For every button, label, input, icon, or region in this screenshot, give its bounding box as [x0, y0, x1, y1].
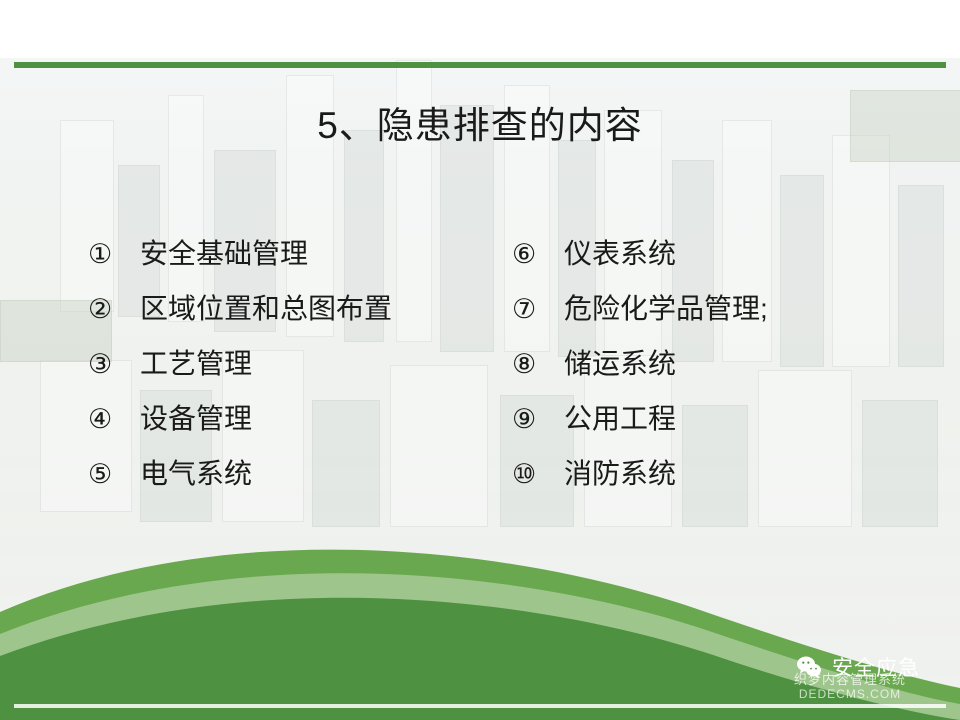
list-text: 仪表系统 [564, 232, 676, 272]
list-item: ④ 设备管理 [88, 397, 488, 452]
list-marker: ④ [88, 404, 140, 435]
list-item: ⑤ 电气系统 [88, 452, 488, 507]
top-white-band [0, 0, 960, 58]
list-text: 危险化学品管理; [564, 287, 768, 327]
watermark: 织梦内容管理系统 DEDECMS.COM [794, 673, 906, 702]
list-marker: ⑨ [512, 404, 564, 435]
list-text: 消防系统 [564, 452, 676, 492]
page-title: 5、隐患排查的内容 [0, 104, 960, 148]
list-item: ② 区域位置和总图布置 [88, 287, 488, 342]
list-marker: ⑥ [512, 239, 564, 270]
list-item: ⑩ 消防系统 [512, 452, 912, 507]
list-marker: ① [88, 239, 140, 270]
list-text: 储运系统 [564, 342, 676, 382]
list-marker: ② [88, 294, 140, 325]
list-item: ⑥ 仪表系统 [512, 232, 912, 287]
list-item: ⑨ 公用工程 [512, 397, 912, 452]
list-text: 工艺管理 [140, 342, 252, 382]
watermark-line-2: DEDECMS.COM [794, 688, 906, 702]
top-green-rule [14, 62, 946, 68]
list-item: ⑦ 危险化学品管理; [512, 287, 912, 342]
list-marker: ③ [88, 349, 140, 380]
slide: 5、隐患排查的内容 ① 安全基础管理 ② 区域位置和总图布置 ③ 工艺管理 ④ … [0, 0, 960, 720]
list-text: 电气系统 [140, 452, 252, 492]
list-marker: ⑦ [512, 294, 564, 325]
list-text: 公用工程 [564, 397, 676, 437]
list-item: ⑧ 储运系统 [512, 342, 912, 397]
content-list-right: ⑥ 仪表系统 ⑦ 危险化学品管理; ⑧ 储运系统 ⑨ 公用工程 ⑩ 消防系统 [512, 232, 912, 507]
watermark-line-1: 织梦内容管理系统 [794, 673, 906, 688]
content-list-left: ① 安全基础管理 ② 区域位置和总图布置 ③ 工艺管理 ④ 设备管理 ⑤ 电气系… [88, 232, 488, 507]
list-marker: ⑧ [512, 349, 564, 380]
list-marker: ⑤ [88, 459, 140, 490]
list-text: 安全基础管理 [140, 232, 308, 272]
list-text: 设备管理 [140, 397, 252, 437]
list-marker: ⑩ [512, 459, 564, 490]
list-item: ① 安全基础管理 [88, 232, 488, 287]
list-item: ③ 工艺管理 [88, 342, 488, 397]
list-text: 区域位置和总图布置 [140, 287, 392, 327]
